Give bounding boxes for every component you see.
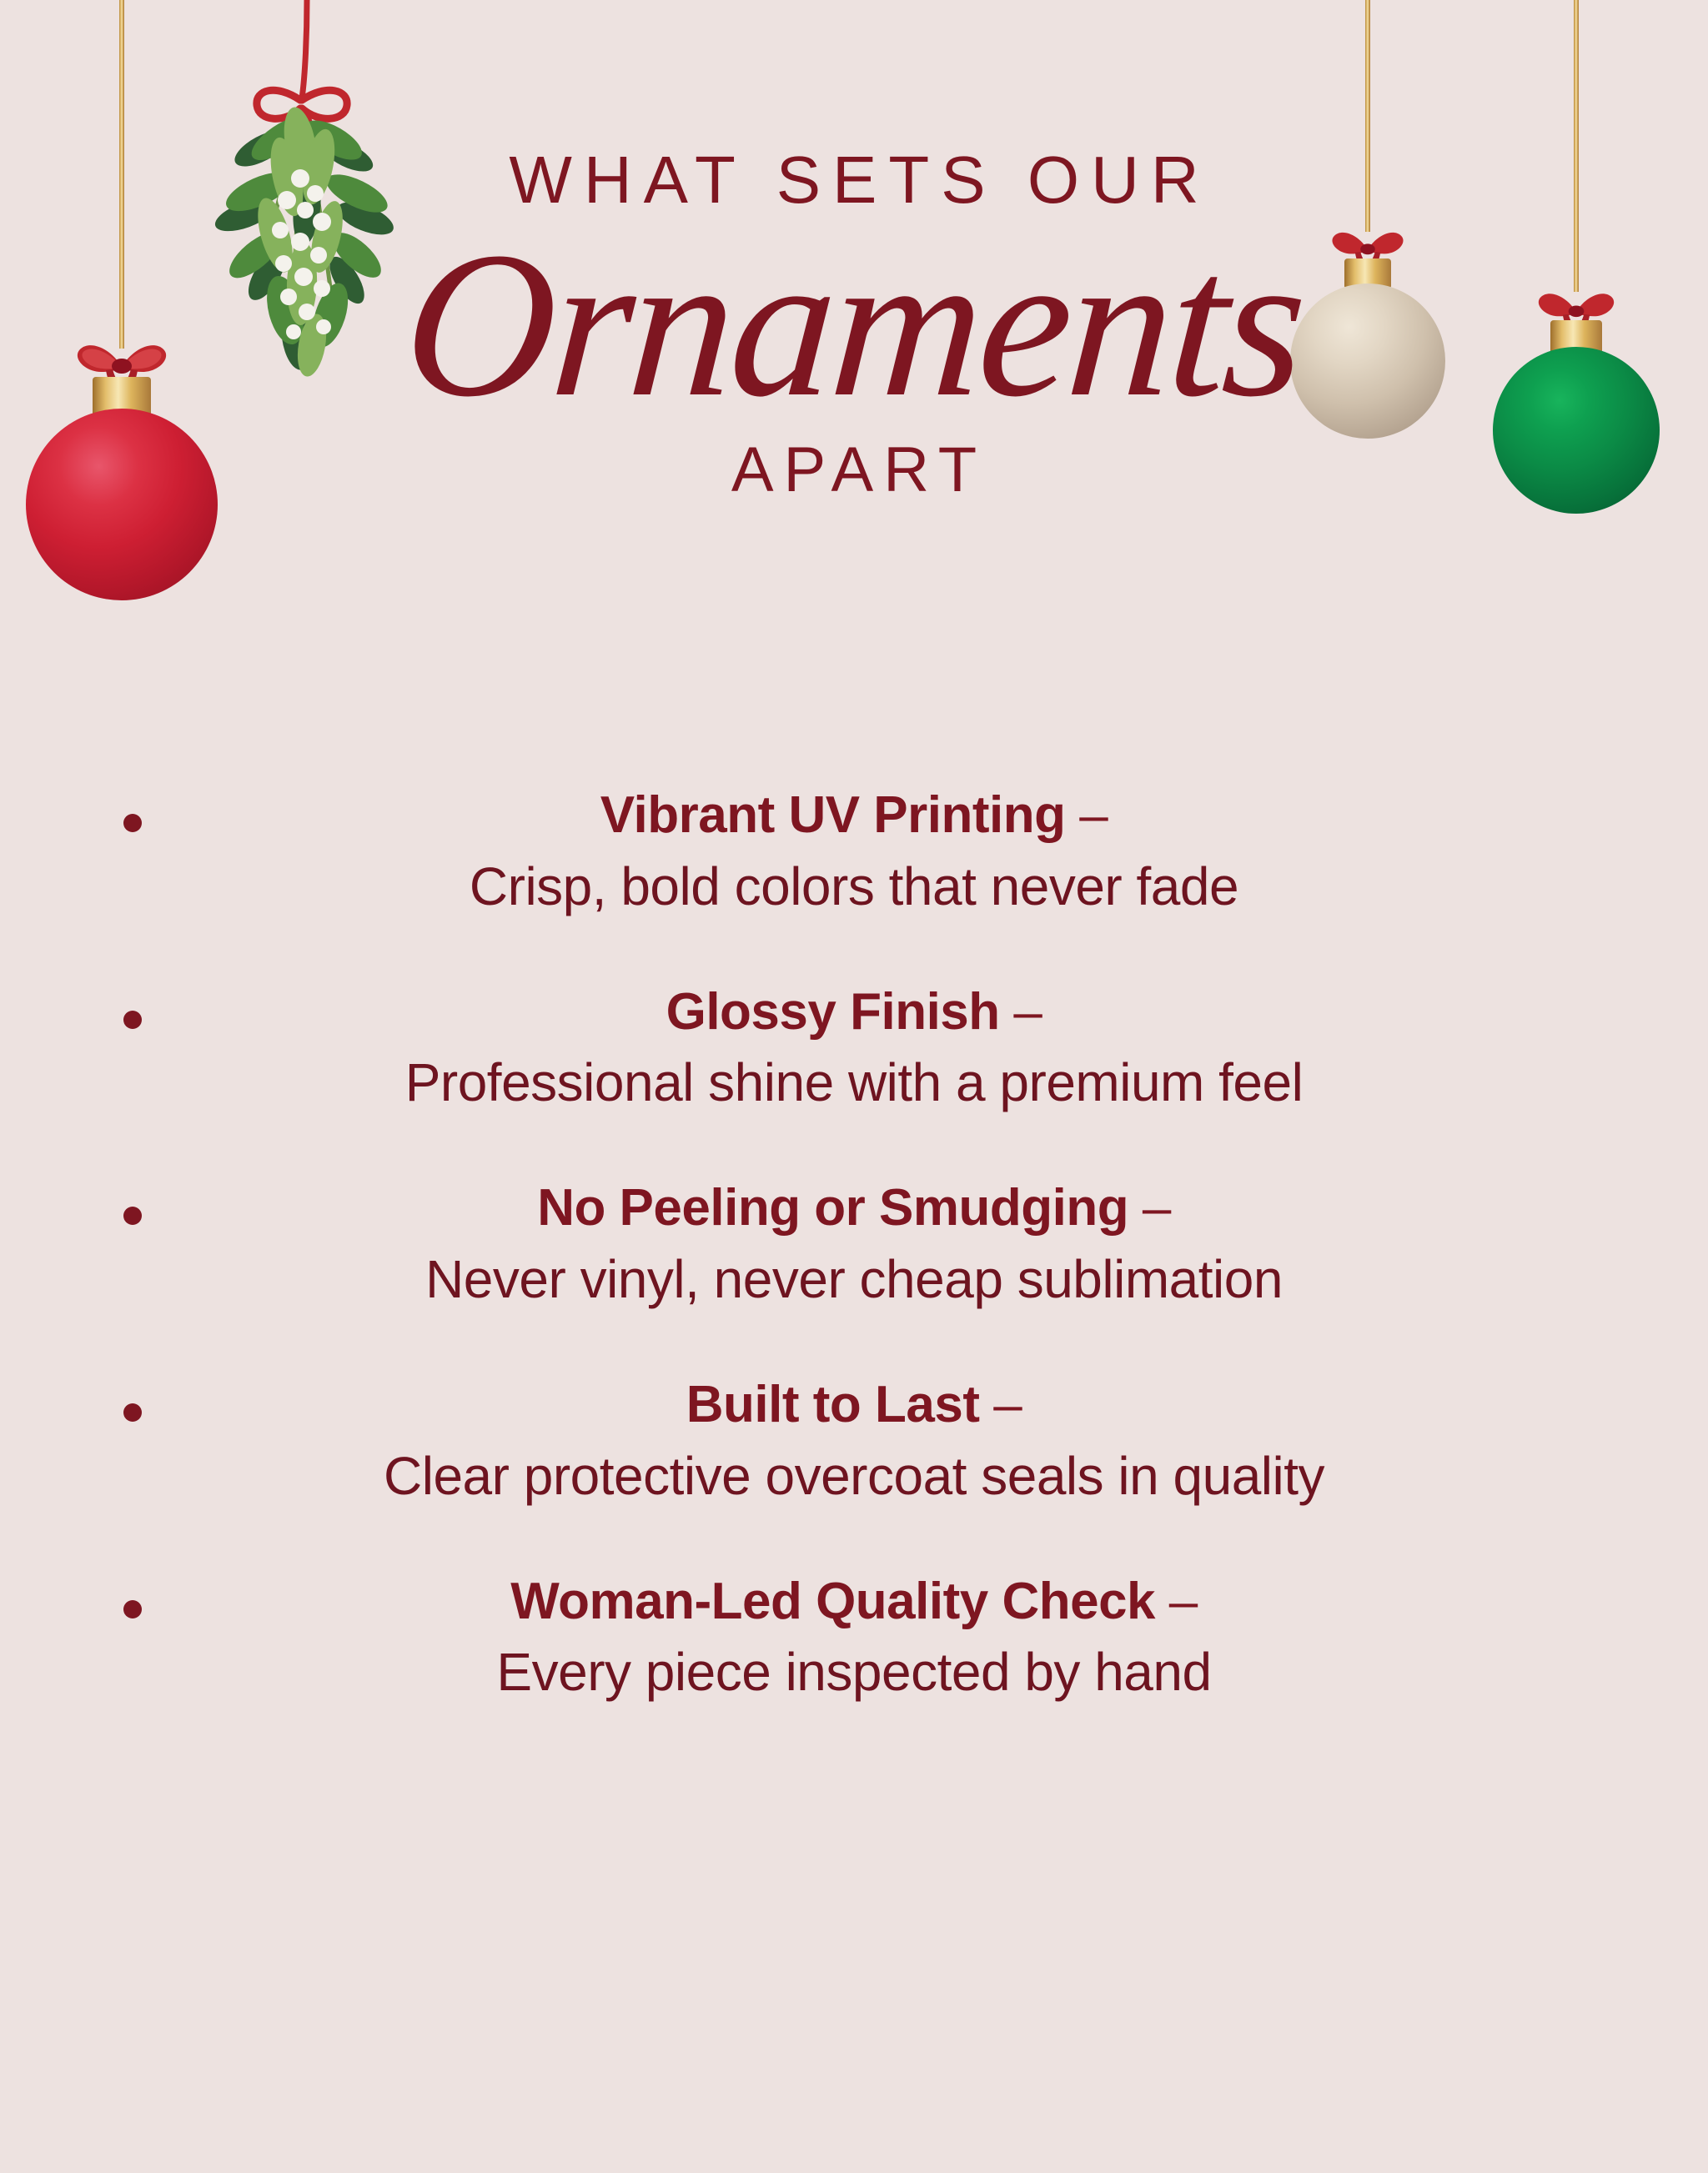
bullet-point-icon	[123, 1403, 142, 1422]
bullet-point-icon	[123, 814, 142, 832]
feature-title-dash: –	[1066, 786, 1108, 844]
feature-description: Never vinyl, never cheap sublimation	[0, 1247, 1708, 1312]
feature-description: Every piece inspected by hand	[0, 1639, 1708, 1704]
feature-title: Glossy Finish –	[0, 981, 1708, 1044]
feature-title-dash: –	[979, 1376, 1022, 1433]
list-item: Built to Last – Clear protective overcoa…	[0, 1373, 1708, 1508]
feature-description: Clear protective overcoat seals in quali…	[0, 1443, 1708, 1508]
feature-title-text: Vibrant UV Printing	[600, 786, 1066, 844]
feature-title-text: Glossy Finish	[666, 983, 1000, 1041]
feature-title-text: No Peeling or Smudging	[537, 1179, 1128, 1237]
bullet-point-icon	[123, 1011, 142, 1029]
feature-title: Built to Last –	[0, 1373, 1708, 1437]
feature-title: Vibrant UV Printing –	[0, 784, 1708, 847]
list-item: Glossy Finish – Professional shine with …	[0, 981, 1708, 1116]
feature-description: Crisp, bold colors that never fade	[0, 854, 1708, 919]
feature-title-dash: –	[1000, 983, 1042, 1041]
feature-title-text: Woman-Led Quality Check	[510, 1573, 1155, 1630]
title-line-bottom: APART	[0, 439, 1708, 502]
list-item: No Peeling or Smudging – Never vinyl, ne…	[0, 1177, 1708, 1312]
feature-title-dash: –	[1128, 1179, 1171, 1237]
feature-title-dash: –	[1155, 1573, 1198, 1630]
poster-canvas: WHAT SETS OUR Ornaments APART Vibrant UV…	[0, 0, 1708, 2173]
feature-list: Vibrant UV Printing – Crisp, bold colors…	[0, 784, 1708, 1767]
title-script-word: Ornaments	[0, 208, 1708, 442]
bullet-point-icon	[123, 1600, 142, 1618]
page-title: WHAT SETS OUR Ornaments APART	[0, 147, 1708, 502]
title-line-top: WHAT SETS OUR	[0, 147, 1708, 213]
list-item: Woman-Led Quality Check – Every piece in…	[0, 1570, 1708, 1705]
feature-title-text: Built to Last	[686, 1376, 980, 1433]
feature-title: No Peeling or Smudging –	[0, 1177, 1708, 1240]
feature-title: Woman-Led Quality Check –	[0, 1570, 1708, 1634]
list-item: Vibrant UV Printing – Crisp, bold colors…	[0, 784, 1708, 919]
feature-description: Professional shine with a premium feel	[0, 1050, 1708, 1115]
